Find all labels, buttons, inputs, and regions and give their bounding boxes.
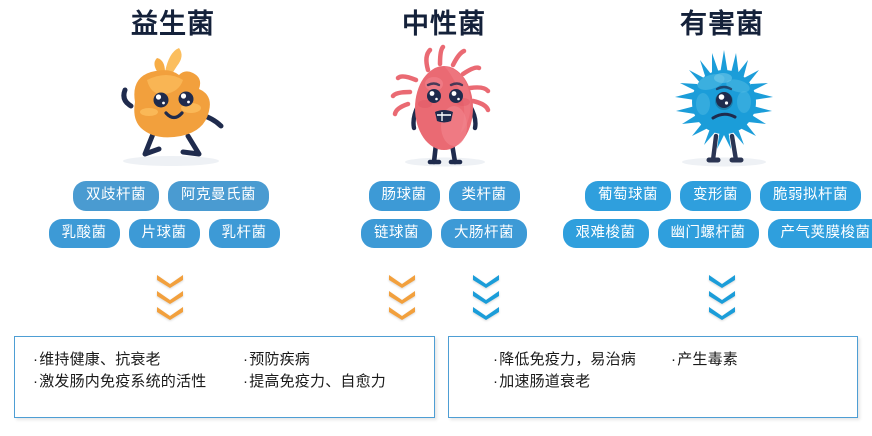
- bacteria-pill[interactable]: 艰难梭菌: [563, 219, 649, 249]
- bullet-text: 预防疾病: [249, 351, 310, 368]
- orange-garlic-bacteria-mascot: [0, 44, 310, 169]
- bacteria-pill[interactable]: 变形菌: [680, 181, 751, 211]
- pill-group-neutral: 肠球菌 类杆菌 链球菌 大肠杆菌: [310, 181, 572, 256]
- chevron-down-icon: [389, 307, 415, 320]
- bullet-dot: ·: [33, 351, 38, 368]
- bullet-dot: ·: [493, 373, 498, 390]
- chevron-down-icon: [709, 307, 735, 320]
- pill-row: 双歧杆菌 阿克曼氏菌: [0, 181, 310, 211]
- harms-column-right: ·产生毒素: [671, 349, 811, 417]
- chevron-down-icon: [473, 307, 499, 320]
- bacteria-pill[interactable]: 链球菌: [361, 219, 432, 249]
- pink-flagella-bacteria-mascot: [310, 44, 572, 169]
- blue-spiky-one-eyed-bacteria-mascot: [572, 44, 872, 169]
- bacteria-pill[interactable]: 产气荚膜梭菌: [768, 219, 872, 249]
- pill-row: 葡萄球菌 变形菌 脆弱拟杆菌: [572, 181, 872, 211]
- bullet-line: ·降低免疫力，易治病: [493, 349, 671, 371]
- bullet-text: 提高免疫力、自愈力: [249, 373, 386, 390]
- pill-row: 乳酸菌 片球菌 乳杆菌: [0, 219, 310, 249]
- chevron-down-icon: [389, 275, 415, 288]
- bullet-line: ·维持健康、抗衰老: [33, 349, 243, 371]
- bacteria-pill[interactable]: 片球菌: [129, 219, 200, 249]
- chevron-stack-blue: [709, 275, 735, 320]
- bullet-line: ·激发肠内免疫系统的活性: [33, 371, 243, 393]
- gut-flora-infographic: { "columns": [ { "title": "益生菌", "mascot…: [0, 0, 872, 436]
- chevron-down-icon: [473, 291, 499, 304]
- bacteria-pill[interactable]: 幽门螺杆菌: [658, 219, 759, 249]
- bullet-dot: ·: [493, 351, 498, 368]
- chevron-down-icon: [709, 275, 735, 288]
- column-title-neutral: 中性菌: [310, 0, 572, 38]
- bacteria-pill[interactable]: 双歧杆菌: [73, 181, 159, 211]
- chevron-stack-orange: [389, 275, 415, 320]
- bullet-text: 加速肠道衰老: [499, 373, 590, 390]
- harms-box: ·降低免疫力，易治病 ·加速肠道衰老 ·产生毒素: [448, 336, 858, 418]
- chevron-down-icon: [157, 307, 183, 320]
- chevron-stack-blue: [473, 275, 499, 320]
- bullet-text: 降低免疫力，易治病: [499, 351, 636, 368]
- bullet-text: 维持健康、抗衰老: [39, 351, 161, 368]
- bullet-dot: ·: [33, 373, 38, 390]
- pill-row: 肠球菌 类杆菌: [310, 181, 572, 211]
- chevron-down-icon: [709, 291, 735, 304]
- bacteria-pill[interactable]: 类杆菌: [449, 181, 520, 211]
- bullet-dot: ·: [243, 373, 248, 390]
- harms-column-left: ·降低免疫力，易治病 ·加速肠道衰老: [449, 349, 671, 417]
- arrow-group-probiotic: [0, 275, 310, 320]
- chevron-down-icon: [157, 291, 183, 304]
- bullet-dot: ·: [243, 351, 248, 368]
- column-title-harmful: 有害菌: [572, 0, 872, 38]
- bullet-line: ·预防疾病: [243, 349, 428, 371]
- bacteria-pill[interactable]: 乳杆菌: [209, 219, 280, 249]
- pill-group-harmful: 葡萄球菌 变形菌 脆弱拟杆菌 艰难梭菌 幽门螺杆菌 产气荚膜梭菌: [572, 181, 872, 256]
- bullet-line: ·加速肠道衰老: [493, 371, 671, 393]
- chevron-down-icon: [389, 291, 415, 304]
- bacteria-pill[interactable]: 乳酸菌: [49, 219, 120, 249]
- chevron-stack-orange: [157, 275, 183, 320]
- bacteria-pill[interactable]: 葡萄球菌: [585, 181, 671, 211]
- benefits-box: ·维持健康、抗衰老 ·激发肠内免疫系统的活性 ·预防疾病 ·提高免疫力、自愈力: [14, 336, 435, 418]
- bacteria-pill[interactable]: 阿克曼氏菌: [168, 181, 269, 211]
- bullet-line: ·提高免疫力、自愈力: [243, 371, 428, 393]
- bullet-text: 产生毒素: [677, 351, 738, 368]
- bullet-line: ·产生毒素: [671, 349, 811, 371]
- bullet-text: 激发肠内免疫系统的活性: [39, 373, 206, 390]
- bacteria-columns: 益生菌: [0, 0, 872, 330]
- pill-group-probiotic: 双歧杆菌 阿克曼氏菌 乳酸菌 片球菌 乳杆菌: [0, 181, 310, 256]
- column-probiotic: 益生菌: [0, 0, 310, 330]
- bullet-dot: ·: [671, 351, 676, 368]
- outcome-boxes: ·维持健康、抗衰老 ·激发肠内免疫系统的活性 ·预防疾病 ·提高免疫力、自愈力 …: [0, 336, 872, 422]
- benefits-column-left: ·维持健康、抗衰老 ·激发肠内免疫系统的活性: [15, 349, 243, 417]
- benefits-column-right: ·预防疾病 ·提高免疫力、自愈力: [243, 349, 428, 417]
- chevron-down-icon: [473, 275, 499, 288]
- bacteria-pill[interactable]: 脆弱拟杆菌: [760, 181, 861, 211]
- bacteria-pill[interactable]: 肠球菌: [369, 181, 440, 211]
- column-neutral: 中性菌: [310, 0, 572, 330]
- pill-row: 链球菌 大肠杆菌: [310, 219, 572, 249]
- column-harmful: 有害菌: [572, 0, 872, 330]
- chevron-down-icon: [157, 275, 183, 288]
- pill-row: 艰难梭菌 幽门螺杆菌 产气荚膜梭菌: [572, 219, 872, 249]
- arrow-group-harmful: [572, 275, 872, 320]
- column-title-probiotic: 益生菌: [0, 0, 310, 38]
- arrow-group-neutral: [310, 275, 572, 320]
- bacteria-pill[interactable]: 大肠杆菌: [441, 219, 527, 249]
